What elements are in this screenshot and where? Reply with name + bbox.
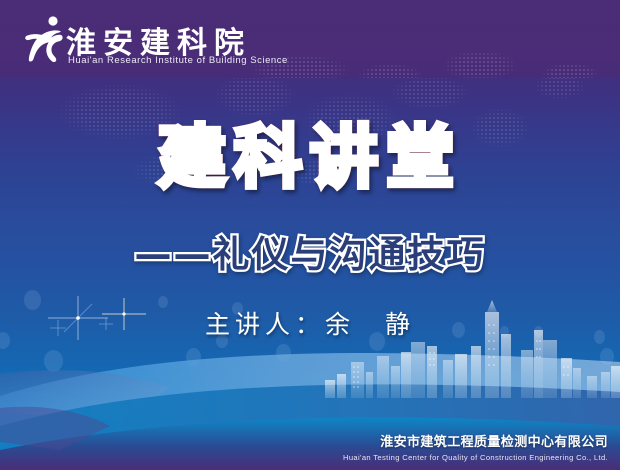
presentation-slide: 淮安建科院 Huai'an Research Institute of Buil… [0,0,620,470]
company-name-cn: 淮安市建筑工程质量检测中心有限公司 [343,431,608,450]
header-bar: 淮安建科院 Huai'an Research Institute of Buil… [0,0,620,78]
page-title: 建科讲堂 [0,118,620,198]
org-name-en: Huai'an Research Institute of Building S… [68,55,288,66]
header-world-map-texture [250,40,620,78]
footer: 淮安市建筑工程质量检测中心有限公司 Huai'an Testing Center… [343,431,608,462]
running-person-logo-icon [22,11,68,63]
page-subtitle: ——礼仪与沟通技巧 [0,232,620,278]
presenter-line: 主讲人：余 静 [0,305,620,341]
company-name-en: Huai'an Testing Center for Quality of Co… [343,453,608,462]
